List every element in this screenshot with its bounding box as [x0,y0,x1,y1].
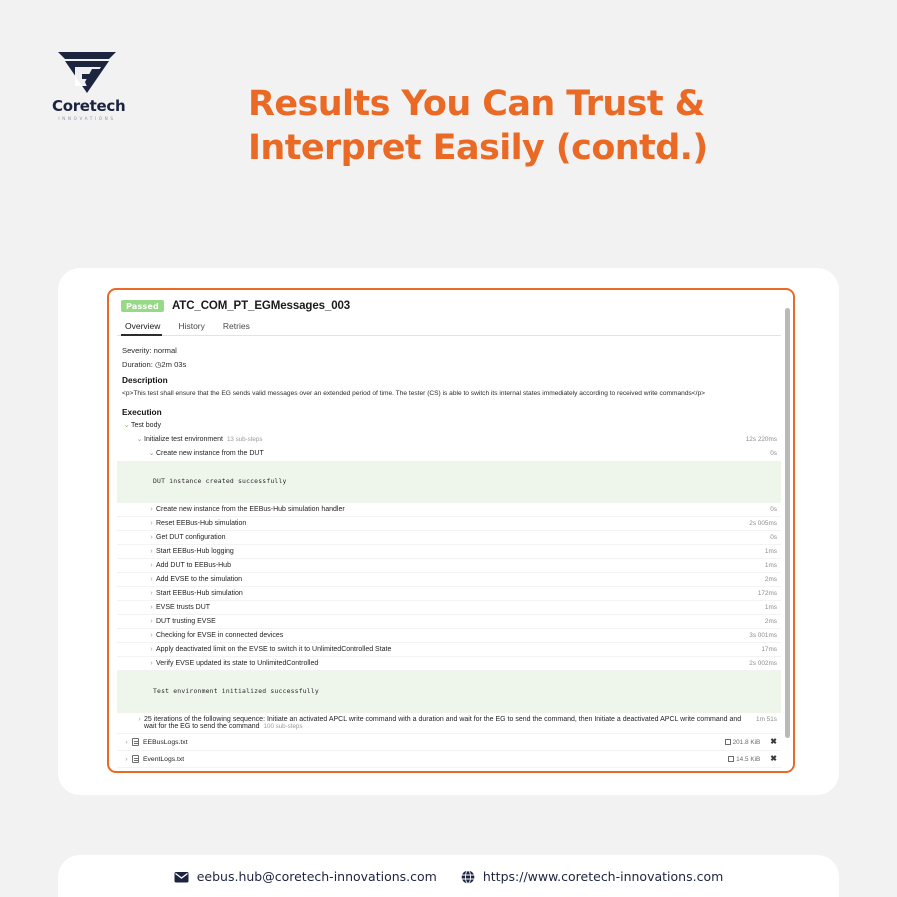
chevron-down-icon: ⌄ [135,436,144,443]
footer-email[interactable]: eebus.hub@coretech-innovations.com [174,869,437,884]
mail-icon [174,871,189,883]
chevron-down-icon: ⌄ [147,450,156,457]
chevron-right-icon: › [147,506,156,513]
chevron-right-icon: › [147,562,156,569]
tree-row-duration: 1ms [757,604,777,611]
tree-row-duration: 0s [762,534,777,541]
chevron-right-icon: › [147,660,156,667]
close-icon[interactable]: ✖ [770,755,777,763]
chevron-right-icon: › [147,590,156,597]
duration-label: Duration: [122,360,153,369]
tree-row-label: Reset EEBus-Hub simulation [156,520,741,527]
tree-row[interactable]: ›Create new instance from the EEBus-Hub … [117,503,781,517]
tree-row-substeps: 100 sub-steps [264,723,303,730]
tree-row[interactable]: ›Apply deactivated limit on the EVSE to … [117,643,781,657]
duration-value: 2m 03s [161,360,186,369]
tree-row-duration: 3s 001ms [741,632,777,639]
scrollbar-thumb[interactable] [785,308,790,738]
slide-root: Coretech INNOVATIONS Results You Can Tru… [0,0,897,897]
save-icon[interactable] [728,756,734,762]
slide-title: Results You Can Trust & Interpret Easily… [248,82,748,170]
tree-row-duration: 12s 220ms [738,436,777,443]
attachment-name: EEBusLogs.txt [143,739,725,746]
footer-contacts: eebus.hub@coretech-innovations.com https… [58,869,839,884]
tree-row[interactable]: ›DUT trusting EVSE2ms [117,615,781,629]
tree-row-label: Apply deactivated limit on the EVSE to s… [156,646,753,653]
report-tabs: Overview History Retries [117,318,781,336]
chevron-right-icon: › [147,520,156,527]
attachment-row[interactable]: ›EventLogs.txt14.5 KiB✖ [117,751,781,768]
tree-row[interactable]: ›Reset EEBus-Hub simulation2s 005ms [117,517,781,531]
attachment-size-text: 201.8 KiB [733,739,761,746]
tab-history[interactable]: History [174,318,218,335]
footer-email-text: eebus.hub@coretech-innovations.com [197,869,437,884]
tree-row-label: DUT trusting EVSE [156,618,757,625]
chevron-right-icon: › [147,604,156,611]
tree-row-label: Add EVSE to the simulation [156,576,757,583]
attachment-list: ›EEBusLogs.txt201.8 KiB✖›EventLogs.txt14… [117,734,781,768]
save-icon[interactable] [725,739,731,745]
tree-row-label: Get DUT configuration [156,534,762,541]
chevron-right-icon: › [147,618,156,625]
tree-row-duration: 172ms [750,590,777,597]
tree-row[interactable]: ›Add EVSE to the simulation2ms [117,573,781,587]
report-header: Passed ATC_COM_PT_EGMessages_003 [117,298,781,318]
severity-line: Severity: normal [117,343,781,357]
slide-title-line-1: Results You Can Trust & [248,82,748,126]
chevron-right-icon: › [147,632,156,639]
tree-row-substeps: 13 sub-steps [227,436,262,443]
chevron-right-icon: › [147,576,156,583]
tree-row-label: Start EEBus-Hub logging [156,548,757,555]
chevron-right-icon: › [147,534,156,541]
tree-row-label: Initialize test environment13 sub-steps [144,436,738,443]
tree-row-initialize[interactable]: ⌄ Initialize test environment13 sub-step… [117,433,781,447]
attachment-name: EventLogs.txt [143,756,728,763]
footer-card: eebus.hub@coretech-innovations.com https… [58,855,839,897]
tree-row-label: Create new instance from the DUT [156,450,762,457]
tree-row-label: Create new instance from the EEBus-Hub s… [156,506,762,513]
coretech-logo-icon [52,48,122,96]
description-heading: Description [117,371,781,387]
tree-row[interactable]: ›Get DUT configuration0s [117,531,781,545]
log-output-dut: DUT instance created successfully [117,461,781,503]
tree-row-duration: 2ms [757,576,777,583]
file-icon [132,738,139,746]
tree-row-test-body[interactable]: ⌄ Test body [117,419,781,433]
attachment-size: 14.5 KiB [728,756,760,763]
tree-row[interactable]: ›Start EEBus-Hub simulation172ms [117,587,781,601]
tree-row-duration: 1ms [757,548,777,555]
tree-row-duration: 0s [762,506,777,513]
chevron-right-icon: › [147,548,156,555]
tree-row-duration: 0s [762,450,777,457]
chevron-right-icon: › [147,646,156,653]
attachment-size: 201.8 KiB [725,739,761,746]
tree-row-duration: 2s 005ms [741,520,777,527]
tree-row[interactable]: ›Start EEBus-Hub logging1ms [117,545,781,559]
tree-row-duration: 17ms [753,646,777,653]
tree-row-duration: 1ms [757,562,777,569]
page-title: ATC_COM_PT_EGMessages_003 [172,300,350,312]
logo-tagline: INNOVATIONS [52,116,122,121]
attachment-row[interactable]: ›EEBusLogs.txt201.8 KiB✖ [117,734,781,751]
slide-title-line-2: Interpret Easily (contd.) [248,126,748,170]
tree-row-duration: 1m 51s [748,716,777,723]
tree-row[interactable]: ›EVSE trusts DUT1ms [117,601,781,615]
tree-row-label: 25 iterations of the following sequence:… [144,716,748,730]
tree-row-label: EVSE trusts DUT [156,604,757,611]
status-badge: Passed [121,300,164,312]
tree-row-label: Add DUT to EEBus-Hub [156,562,757,569]
attachment-size-text: 14.5 KiB [736,756,760,763]
chevron-right-icon: › [122,739,131,746]
tree-row-label: Checking for EVSE in connected devices [156,632,741,639]
close-icon[interactable]: ✖ [770,738,777,746]
tree-row[interactable]: ›Checking for EVSE in connected devices3… [117,629,781,643]
tree-row[interactable]: ›Verify EVSE updated its state to Unlimi… [117,657,781,671]
chevron-down-icon: ⌄ [122,422,131,429]
tree-row-label: Start EEBus-Hub simulation [156,590,750,597]
tree-row-create-dut[interactable]: ⌄ Create new instance from the DUT 0s [117,447,781,461]
globe-icon [461,870,475,884]
test-report-panel: Passed ATC_COM_PT_EGMessages_003 Overvie… [107,288,795,773]
tab-overview[interactable]: Overview [121,318,174,335]
execution-heading: Execution [117,403,781,419]
tree-row-iterations[interactable]: › 25 iterations of the following sequenc… [117,713,781,734]
chevron-right-icon: › [122,756,131,763]
file-icon [132,755,139,763]
tree-row[interactable]: ›Add DUT to EEBus-Hub1ms [117,559,781,573]
tree-row-label: Test body [131,422,777,429]
tree-row-duration: 2s 002ms [741,660,777,667]
footer-website[interactable]: https://www.coretech-innovations.com [461,869,723,884]
description-text: <p>This test shall ensure that the EG se… [117,387,781,403]
scrollbar[interactable] [785,308,790,765]
logo-wordmark: Coretech [52,97,122,115]
duration-line: Duration: ◷2m 03s [117,357,781,371]
log-output-init: Test environment initialized successfull… [117,671,781,713]
test-report-body: Passed ATC_COM_PT_EGMessages_003 Overvie… [109,290,793,771]
tree-step-list: ›Create new instance from the EEBus-Hub … [117,503,781,671]
footer-website-text: https://www.coretech-innovations.com [483,869,723,884]
chevron-right-icon: › [135,716,144,723]
brand-logo: Coretech INNOVATIONS [52,48,122,120]
tab-retries[interactable]: Retries [219,318,264,335]
tree-row-label: Verify EVSE updated its state to Unlimit… [156,660,741,667]
tree-row-duration: 2ms [757,618,777,625]
